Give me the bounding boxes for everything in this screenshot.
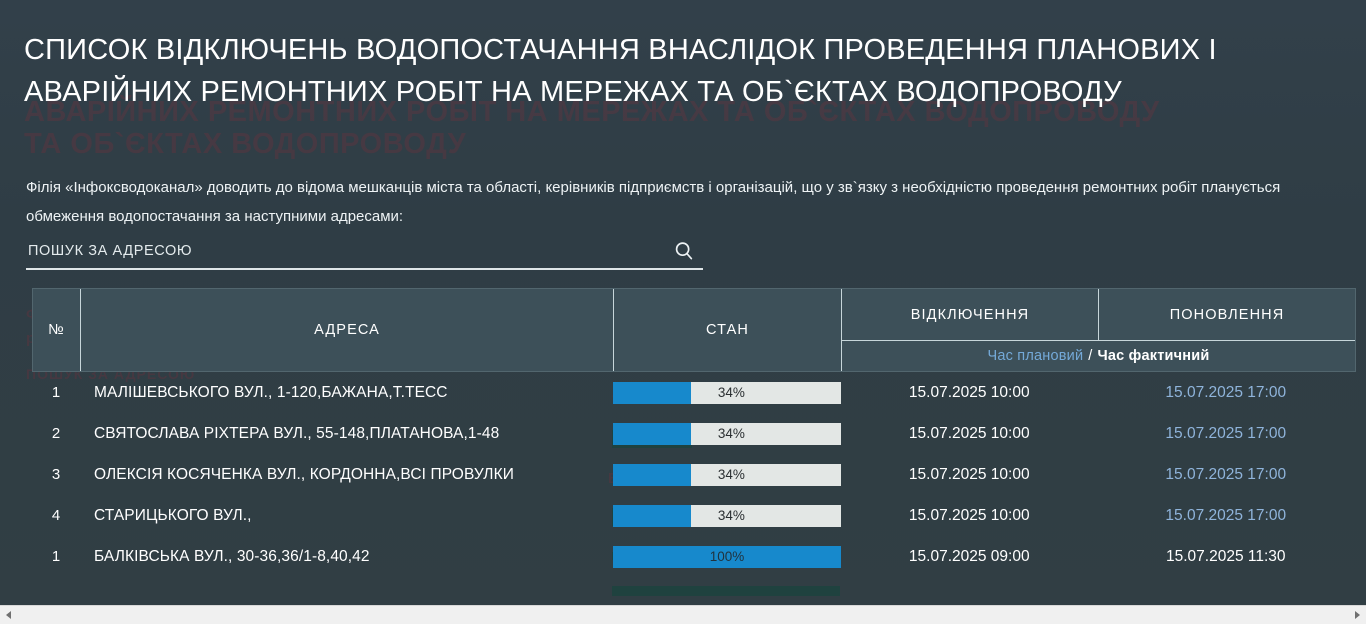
row-number: 2	[32, 413, 80, 454]
progress-bar: 34%	[613, 464, 841, 486]
intro-paragraph: Філія «Інфоксводоканал» доводить до відо…	[26, 173, 1336, 231]
outage-table: № АДРЕСА СТАН ВІДКЛЮЧЕННЯ ПОНОВЛЕННЯ Час…	[32, 288, 1356, 577]
row-address: БАЛКІВСЬКА ВУЛ., 30-36,36/1-8,40,42	[80, 536, 613, 577]
chevron-left-icon	[6, 611, 11, 619]
header-shutdown: ВІДКЛЮЧЕННЯ	[842, 289, 1099, 340]
row-state: 100%	[613, 536, 841, 577]
table-row[interactable]: 4СТАРИЦЬКОГО ВУЛ.,34%15.07.2025 10:0015.…	[32, 495, 1356, 536]
row-shutdown-time: 15.07.2025 10:00	[841, 413, 1098, 454]
scroll-right-button[interactable]	[1349, 606, 1366, 624]
row-address: МАЛІШЕВСЬКОГО ВУЛ., 1-120,БАЖАНА,Т.ТЕСС	[80, 372, 613, 413]
scrollbar-thumb[interactable]	[17, 608, 1117, 623]
scroll-left-button[interactable]	[0, 606, 17, 624]
row-number: 1	[32, 372, 80, 413]
chevron-right-icon	[1355, 611, 1360, 619]
header-address: АДРЕСА	[81, 289, 614, 371]
progress-bar: 34%	[613, 505, 841, 527]
search-bar[interactable]	[26, 236, 703, 270]
row-address: ОЛЕКСІЯ КОСЯЧЕНКА ВУЛ., КОРДОННА,ВСІ ПРО…	[80, 454, 613, 495]
header-state: СТАН	[614, 289, 842, 371]
legend-separator: /	[1088, 348, 1092, 364]
row-state: 34%	[613, 372, 841, 413]
table-row[interactable]: 3ОЛЕКСІЯ КОСЯЧЕНКА ВУЛ., КОРДОННА,ВСІ ПР…	[32, 454, 1356, 495]
row-address: СВЯТОСЛАВА РІХТЕРА ВУЛ., 55-148,ПЛАТАНОВ…	[80, 413, 613, 454]
row-shutdown-time: 15.07.2025 09:00	[841, 536, 1098, 577]
header-restore: ПОНОВЛЕННЯ	[1099, 289, 1355, 340]
row-restore-time: 15.07.2025 17:00	[1098, 454, 1355, 495]
row-state: 34%	[613, 454, 841, 495]
row-restore-time: 15.07.2025 17:00	[1098, 372, 1355, 413]
row-number: 1	[32, 536, 80, 577]
search-icon	[673, 240, 695, 262]
row-address: СТАРИЦЬКОГО ВУЛ.,	[80, 495, 613, 536]
row-shutdown-time: 15.07.2025 10:00	[841, 495, 1098, 536]
progress-bar: 34%	[613, 382, 841, 404]
row-shutdown-time: 15.07.2025 10:00	[841, 372, 1098, 413]
row-restore-time: 15.07.2025 17:00	[1098, 495, 1355, 536]
header-time-group: ВІДКЛЮЧЕННЯ ПОНОВЛЕННЯ Час плановий / Ча…	[842, 289, 1355, 371]
header-number: №	[33, 289, 81, 371]
horizontal-scrollbar[interactable]	[0, 605, 1366, 624]
progress-bar-label: 34%	[613, 382, 841, 404]
row-restore-time: 15.07.2025 11:30	[1098, 536, 1355, 577]
table-row[interactable]: 1БАЛКІВСЬКА ВУЛ., 30-36,36/1-8,40,42100%…	[32, 536, 1356, 577]
row-number: 4	[32, 495, 80, 536]
row-shutdown-time: 15.07.2025 10:00	[841, 454, 1098, 495]
progress-bar: 100%	[613, 546, 841, 568]
page-root: АВАРІЙНИХ РЕМОНТНИХ РОБІТ НА МЕРЕЖАХ ТА …	[0, 0, 1366, 624]
table-row[interactable]: 1МАЛІШЕВСЬКОГО ВУЛ., 1-120,БАЖАНА,Т.ТЕСС…	[32, 372, 1356, 413]
page-title: СПИСОК ВІДКЛЮЧЕНЬ ВОДОПОСТАЧАННЯ ВНАСЛІД…	[24, 29, 1344, 113]
row-restore-time: 15.07.2025 17:00	[1098, 413, 1355, 454]
ghost-artifact-title-2: ТА ОБ`ЄКТАХ ВОДОПРОВОДУ	[24, 128, 466, 161]
row-state: 34%	[613, 495, 841, 536]
table-row[interactable]: 2СВЯТОСЛАВА РІХТЕРА ВУЛ., 55-148,ПЛАТАНО…	[32, 413, 1356, 454]
progress-bar: 34%	[613, 423, 841, 445]
progress-bar-label: 34%	[613, 464, 841, 486]
search-input[interactable]	[26, 236, 646, 266]
legend-planned-time: Час плановий	[988, 348, 1084, 364]
row-number: 3	[32, 454, 80, 495]
scrollbar-track[interactable]	[17, 606, 1349, 624]
search-button[interactable]	[667, 234, 701, 268]
row-state: 34%	[613, 413, 841, 454]
progress-bar-label: 100%	[613, 546, 841, 568]
progress-bar-label: 34%	[613, 423, 841, 445]
table-header: № АДРЕСА СТАН ВІДКЛЮЧЕННЯ ПОНОВЛЕННЯ Час…	[32, 288, 1356, 372]
ghost-block-4	[612, 586, 840, 596]
progress-bar-label: 34%	[613, 505, 841, 527]
header-time-legend: Час плановий / Час фактичний	[842, 340, 1355, 371]
table-body: 1МАЛІШЕВСЬКОГО ВУЛ., 1-120,БАЖАНА,Т.ТЕСС…	[32, 372, 1356, 577]
legend-actual-time: Час фактичний	[1098, 348, 1210, 364]
